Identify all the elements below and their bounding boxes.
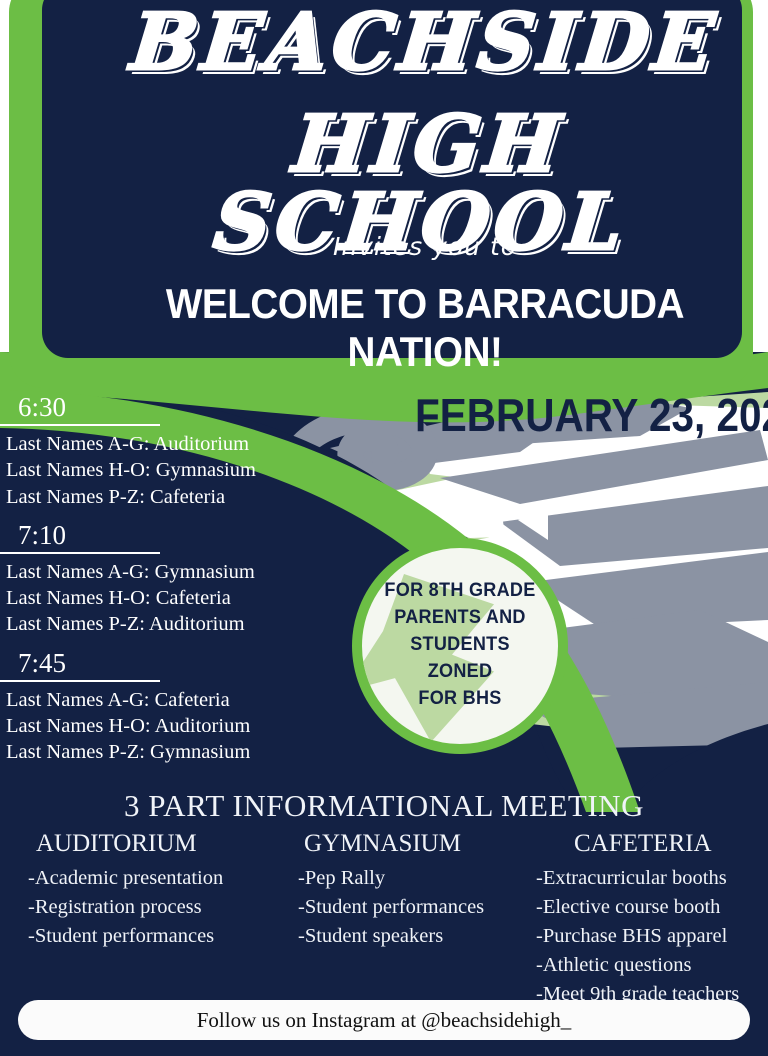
- column-heading: AUDITORIUM: [28, 830, 280, 858]
- column-item: -Academic presentation: [28, 864, 280, 893]
- slot-row: Last Names A-G: Cafeteria: [6, 687, 350, 713]
- badge-text: FOR 8TH GRADE PARENTS AND STUDENTS ZONED…: [362, 548, 558, 713]
- instagram-footer-pill[interactable]: Follow us on Instagram at @beachsidehigh…: [18, 1000, 750, 1040]
- column-item: -Purchase BHS apparel: [536, 922, 768, 951]
- slot-row: Last Names P-Z: Gymnasium: [6, 739, 350, 765]
- meeting-section: 3 PART INFORMATIONAL MEETING AUDITORIUM …: [0, 788, 768, 1010]
- slot-time: 7:45: [0, 648, 350, 679]
- column-item: -Student performances: [28, 922, 280, 951]
- instagram-handle-text: Follow us on Instagram at @beachsidehigh…: [197, 1008, 572, 1033]
- audience-badge: FOR 8TH GRADE PARENTS AND STUDENTS ZONED…: [352, 538, 568, 754]
- school-name-line1: BEACHSIDE: [71, 4, 768, 82]
- meeting-column-cafeteria: CAFETERIA -Extracurricular booths -Elect…: [524, 830, 768, 1010]
- slot-underline: [0, 552, 160, 554]
- schedule-list: 6:30 Last Names A-G: Auditorium Last Nam…: [0, 392, 350, 771]
- slot-underline: [0, 424, 160, 426]
- schedule-slot: 6:30 Last Names A-G: Auditorium Last Nam…: [0, 392, 350, 510]
- slot-row: Last Names H-O: Cafeteria: [6, 585, 350, 611]
- green-frame: BEACHSIDE HIGH SCHOOL Invites you to WEL…: [9, 0, 753, 388]
- meeting-column-gymnasium: GYMNASIUM -Pep Rally -Student performanc…: [280, 830, 524, 1010]
- poster-canvas: BEACHSIDE HIGH SCHOOL Invites you to WEL…: [0, 0, 768, 1056]
- slot-rows: Last Names A-G: Auditorium Last Names H-…: [0, 431, 350, 510]
- badge-line-4: FOR BHS: [378, 686, 541, 713]
- column-item: -Pep Rally: [298, 864, 524, 893]
- header-card: BEACHSIDE HIGH SCHOOL Invites you to WEL…: [42, 0, 742, 358]
- slot-underline: [0, 680, 160, 682]
- event-date: FEBRUARY 23, 2023: [415, 388, 760, 442]
- column-item: -Athletic questions: [536, 951, 768, 980]
- welcome-headline: WELCOME TO BARRACUDA NATION!: [103, 280, 747, 376]
- schedule-slot: 7:45 Last Names A-G: Cafeteria Last Name…: [0, 648, 350, 766]
- slot-row: Last Names A-G: Auditorium: [6, 431, 350, 457]
- column-item: -Registration process: [28, 893, 280, 922]
- column-heading: CAFETERIA: [536, 830, 768, 858]
- meeting-title: 3 PART INFORMATIONAL MEETING: [0, 788, 768, 824]
- column-item: -Extracurricular booths: [536, 864, 768, 893]
- column-item: -Elective course booth: [536, 893, 768, 922]
- schedule-slot: 7:10 Last Names A-G: Gymnasium Last Name…: [0, 520, 350, 638]
- invites-script-text: Invites you to: [75, 232, 768, 261]
- slot-row: Last Names A-G: Gymnasium: [6, 559, 350, 585]
- column-heading: GYMNASIUM: [298, 830, 524, 858]
- slot-row: Last Names H-O: Gymnasium: [6, 457, 350, 483]
- slot-rows: Last Names A-G: Cafeteria Last Names H-O…: [0, 687, 350, 766]
- slot-row: Last Names P-Z: Cafeteria: [6, 484, 350, 510]
- badge-line-2: PARENTS AND: [378, 605, 541, 632]
- slot-row: Last Names H-O: Auditorium: [6, 713, 350, 739]
- meeting-columns: AUDITORIUM -Academic presentation -Regis…: [0, 830, 768, 1010]
- badge-line-1: FOR 8TH GRADE: [378, 578, 541, 605]
- column-item: -Student performances: [298, 893, 524, 922]
- column-item: -Student speakers: [298, 922, 524, 951]
- badge-line-3: STUDENTS ZONED: [378, 632, 541, 686]
- slot-time: 6:30: [0, 392, 350, 423]
- meeting-column-auditorium: AUDITORIUM -Academic presentation -Regis…: [0, 830, 280, 1010]
- slot-rows: Last Names A-G: Gymnasium Last Names H-O…: [0, 559, 350, 638]
- slot-row: Last Names P-Z: Auditorium: [6, 611, 350, 637]
- slot-time: 7:10: [0, 520, 350, 551]
